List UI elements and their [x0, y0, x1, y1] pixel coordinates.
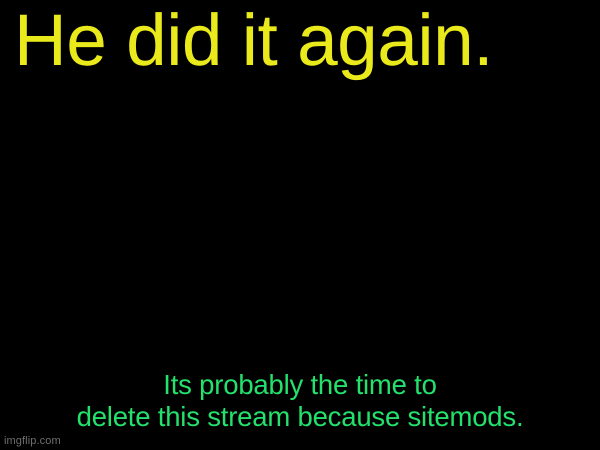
bottom-caption-line-1: Its probably the time to	[4, 369, 596, 401]
bottom-caption: Its probably the time to delete this str…	[0, 369, 600, 433]
top-caption-text: He did it again.	[0, 0, 600, 82]
meme-image: He did it again. Its probably the time t…	[0, 0, 600, 450]
bottom-caption-line-2: delete this stream because sitemods.	[4, 401, 596, 433]
imgflip-watermark: imgflip.com	[4, 435, 61, 448]
